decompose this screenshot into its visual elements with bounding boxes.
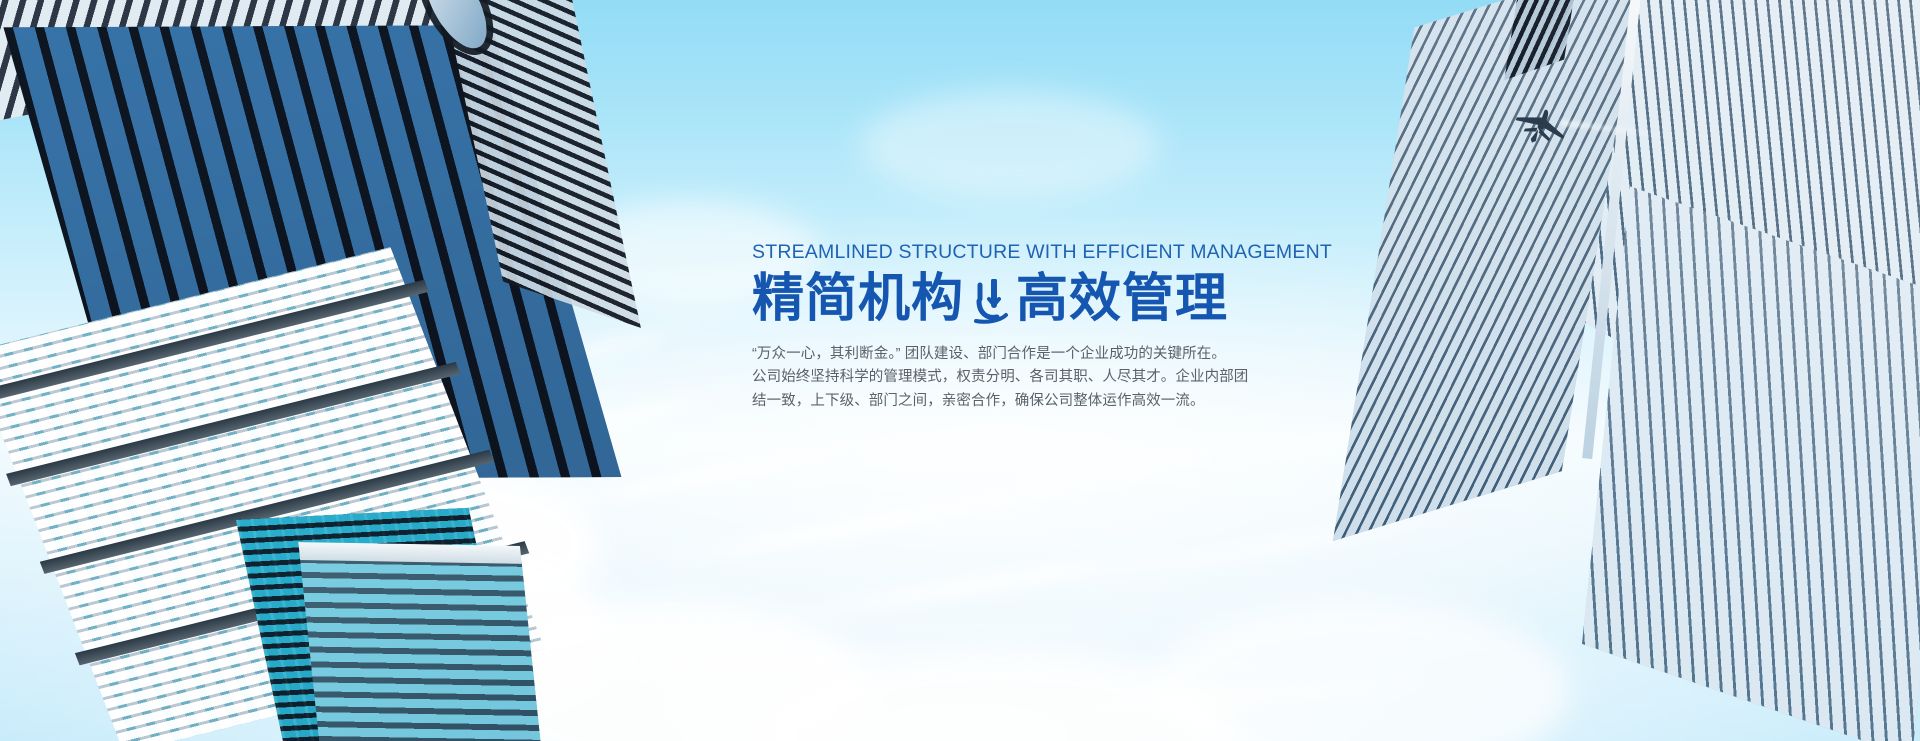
silver-glass-skyscraper-icon <box>1582 186 1920 741</box>
cloud-icon <box>903 429 1297 525</box>
page-title: 精简机构 高效管理 <box>752 271 1312 327</box>
blue-glass-tower-icon <box>300 558 549 741</box>
stylized-hook-divider-icon <box>970 273 1010 325</box>
hero-description-line: 公司始终坚持科学的管理模式，权责分明、各司其职、人尽其才。企业内部团 <box>752 366 1312 389</box>
hero-copy: STREAMLINED STRUCTURE WITH EFFICIENT MAN… <box>752 243 1312 413</box>
cloud-icon <box>1150 600 1570 741</box>
hero-description-line: 结一致，上下级、部门之间，亲密合作，确保公司整体运作高效一流。 <box>752 390 1312 413</box>
cloud-icon <box>860 90 1160 200</box>
headline-right-text: 高效管理 <box>1016 271 1228 327</box>
hero-banner: STREAMLINED STRUCTURE WITH EFFICIENT MAN… <box>0 0 1920 741</box>
hero-description-line: “万众一心，其利断金。” 团队建设、部门合作是一个企业成功的关键所在。 <box>752 343 1312 366</box>
hero-description: “万众一心，其利断金。” 团队建设、部门合作是一个企业成功的关键所在。 公司始终… <box>752 343 1312 413</box>
headline-left-text: 精简机构 <box>752 271 964 327</box>
cloud-icon <box>761 540 1208 627</box>
hero-eyebrow: STREAMLINED STRUCTURE WITH EFFICIENT MAN… <box>752 243 1312 263</box>
